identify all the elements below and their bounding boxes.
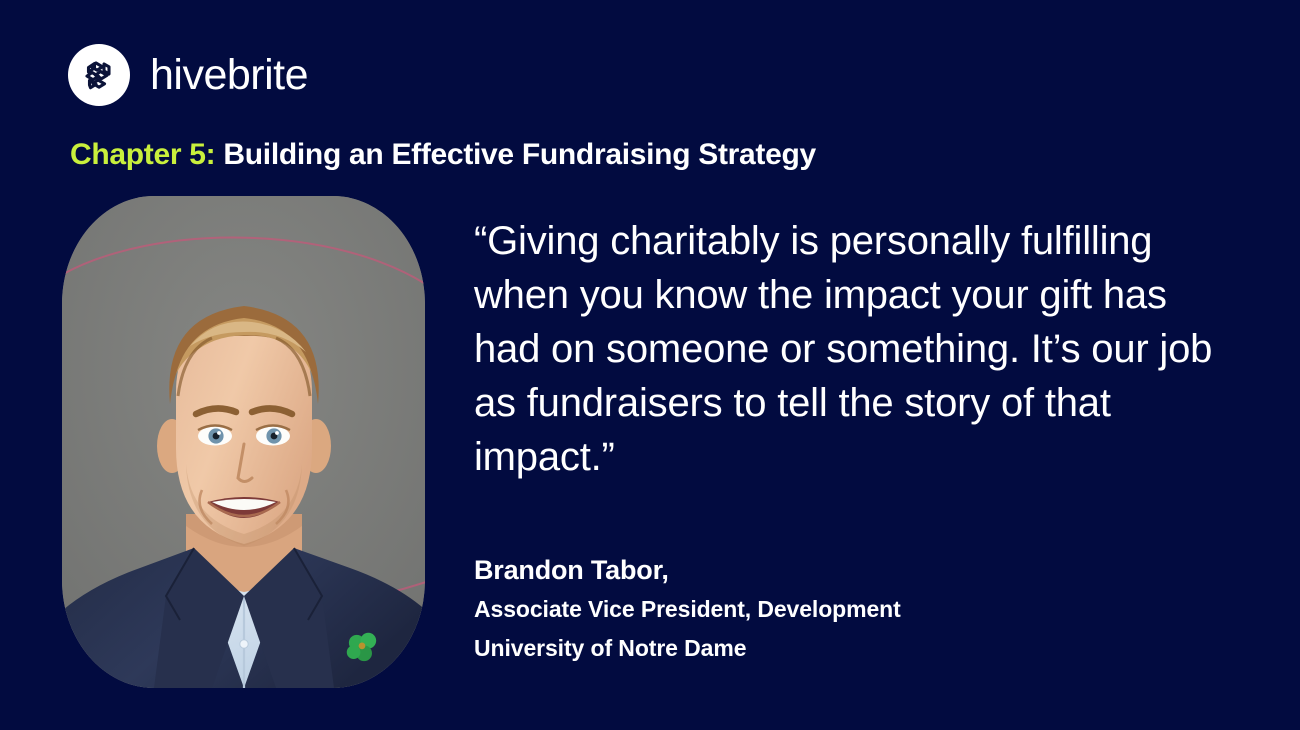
chapter-number-label: Chapter 5: — [70, 138, 215, 171]
speaker-name: Brandon Tabor, — [474, 550, 901, 590]
speaker-portrait — [62, 196, 425, 688]
brand-lockup: hivebrite — [68, 44, 308, 106]
page-title: Chapter 5: Building an Effective Fundrai… — [70, 136, 816, 174]
slide-canvas: hivebrite Chapter 5: Building an Effecti… — [0, 0, 1300, 730]
speaker-organization: University of Notre Dame — [474, 629, 901, 668]
speaker-role: Associate Vice President, Development — [474, 590, 901, 629]
attribution-block: Brandon Tabor, Associate Vice President,… — [474, 550, 901, 668]
chapter-name-label: Building an Effective Fundraising Strate… — [215, 138, 816, 171]
hivebrite-wordmark: hivebrite — [150, 54, 308, 97]
quote-text: “Giving charitably is personally fulfill… — [474, 214, 1226, 484]
hivebrite-logo-icon — [68, 44, 130, 106]
